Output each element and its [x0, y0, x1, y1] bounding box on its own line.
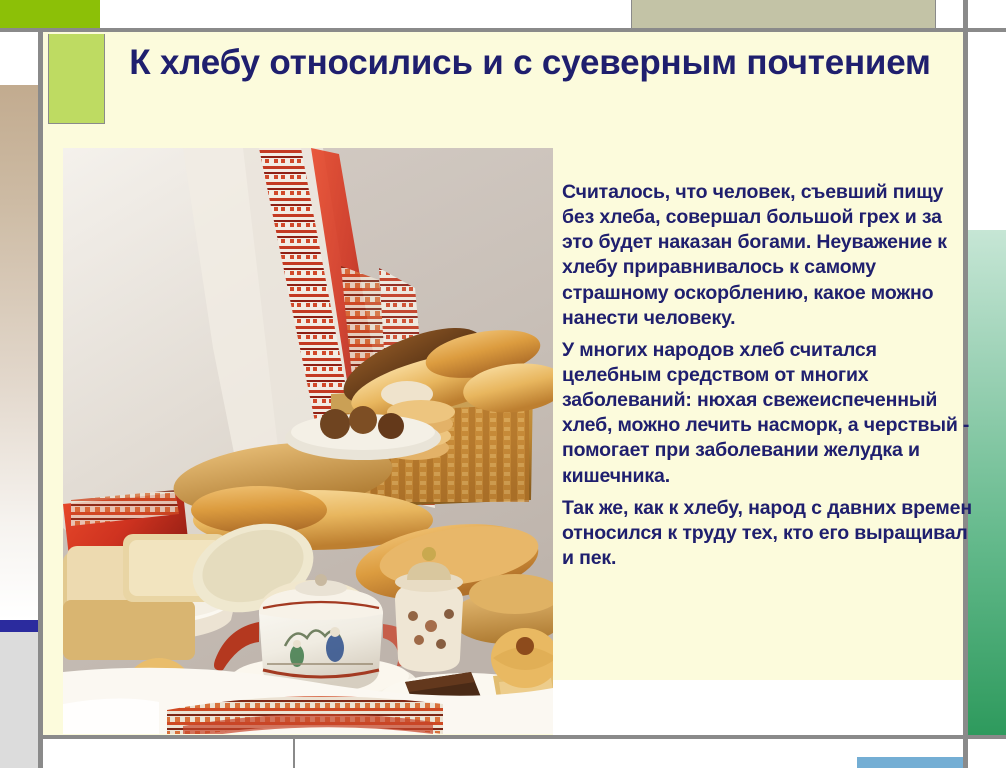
bread-still-life-photo	[63, 148, 553, 734]
frame-rule-top	[0, 28, 1006, 32]
body-paragraph-3: Так же, как к хлебу, народ с давних врем…	[562, 496, 972, 571]
panel-white-footer-area	[553, 680, 963, 735]
presentation-slide: К хлебу относились и с суеверным почтени…	[0, 0, 1006, 768]
frame-rule-footer-divider	[293, 739, 295, 768]
frame-rule-bottom	[43, 735, 1006, 739]
slide-body-text: Считалось, что человек, съевший пищу без…	[562, 180, 972, 571]
decor-blue-rule-left	[0, 620, 38, 632]
decor-khaki-block-top-right	[631, 0, 936, 30]
decor-blue-accent-bar-bottom	[857, 757, 967, 768]
body-paragraph-1: Считалось, что человек, съевший пищу без…	[562, 180, 972, 331]
decor-grey-block-bottom-left	[0, 632, 38, 768]
body-paragraph-2: У многих народов хлеб считался целебным …	[562, 338, 972, 489]
slide-title: К хлебу относились и с суеверным почтени…	[110, 42, 950, 83]
decor-lime-block-title-left	[48, 34, 105, 124]
decor-tan-gradient-strip	[0, 85, 38, 620]
frame-rule-left	[38, 28, 43, 768]
decor-green-block-top-left	[0, 0, 100, 28]
decor-green-gradient-bar-right	[968, 230, 1006, 735]
